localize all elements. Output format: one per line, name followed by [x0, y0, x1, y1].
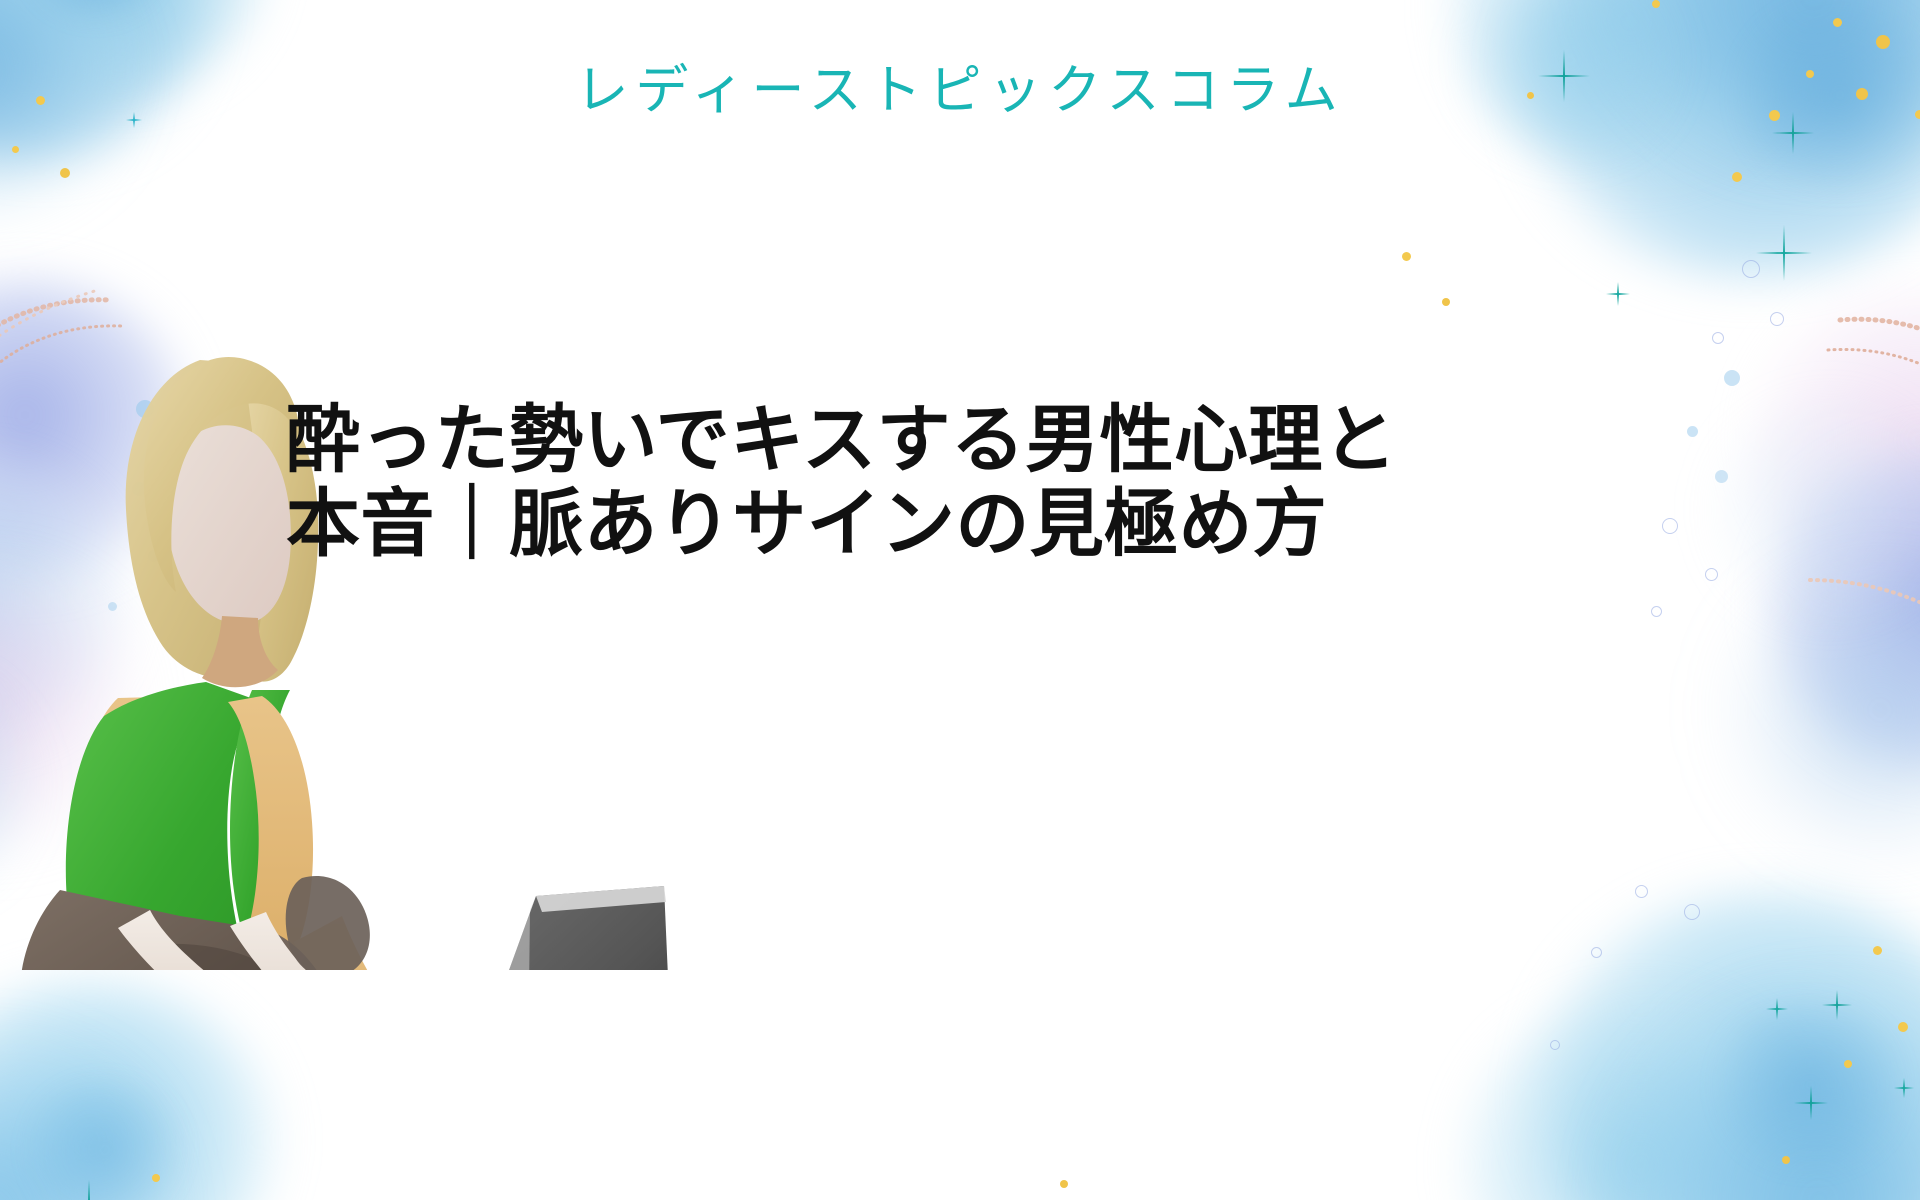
gold-dot	[1844, 1060, 1852, 1068]
gold-dot	[12, 146, 19, 153]
starburst-icon	[1756, 225, 1812, 281]
gold-dot	[1402, 252, 1411, 261]
starburst-icon	[1822, 990, 1852, 1020]
glitter-arc	[1660, 280, 1920, 740]
bubble-ring	[1662, 518, 1678, 534]
gold-dot	[1652, 0, 1660, 8]
starburst-icon	[68, 1180, 110, 1200]
gold-dot	[1876, 35, 1890, 49]
page-title-line-1: 酔った勢いでキスする男性心理と	[286, 398, 1296, 482]
starburst-icon	[1894, 1078, 1914, 1098]
cushion	[286, 876, 370, 970]
eyecatch-banner: レディーストピックスコラム 酔った勢いでキスする男性心理と 本音｜脈ありサインの…	[0, 0, 1920, 1200]
starburst-icon	[1794, 1086, 1828, 1120]
bubble-ring	[1651, 606, 1662, 617]
starburst-icon	[1606, 282, 1630, 306]
gold-dot	[1442, 298, 1450, 306]
gold-dot	[152, 1174, 160, 1182]
bubble-ring	[1635, 885, 1648, 898]
starburst-icon	[1766, 998, 1788, 1020]
bubble-ring	[1591, 947, 1602, 958]
page-title-line-2: 本音｜脈ありサインの見極め方	[286, 482, 1296, 566]
gold-dot	[1782, 1156, 1790, 1164]
bubble-ring	[1550, 1040, 1560, 1050]
bubble-ring	[1770, 312, 1784, 326]
splash-top-left	[0, 0, 300, 280]
bubble-dot	[1724, 370, 1740, 386]
splash-right	[1610, 250, 1920, 870]
gold-dot	[60, 168, 70, 178]
bubble-ring	[1712, 332, 1724, 344]
page-title: 酔った勢いでキスする男性心理と 本音｜脈ありサインの見極め方	[286, 398, 1296, 567]
gold-dot	[1060, 1180, 1068, 1188]
gold-dot	[1833, 18, 1842, 27]
bubble-ring	[1705, 568, 1718, 581]
splash-top-right	[1310, 0, 1920, 380]
eyebrow-label: レディーストピックスコラム	[0, 62, 1920, 120]
gold-dot	[1873, 946, 1882, 955]
starburst-icon	[118, 26, 140, 48]
bubble-ring	[1684, 904, 1700, 920]
bubble-ring	[1742, 260, 1760, 278]
laptop-screen-edge	[472, 896, 536, 970]
bubble-dot	[1687, 426, 1698, 437]
gold-dot	[1898, 1022, 1908, 1032]
splash-bottom-right	[1380, 790, 1920, 1200]
bubble-dot	[1715, 470, 1728, 483]
gold-dot	[1732, 172, 1742, 182]
